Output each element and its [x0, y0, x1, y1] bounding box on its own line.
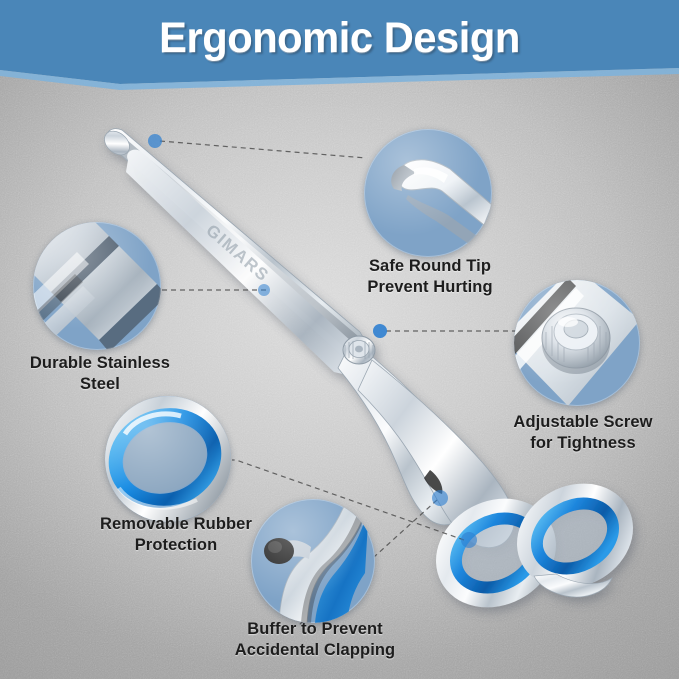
callout-label-buffer: Buffer to Prevent Accidental Clapping	[212, 619, 418, 661]
callout-label-removable-rubber: Removable Rubber Protection	[78, 514, 274, 556]
bubble-glow	[364, 129, 492, 257]
callout-label-durable-stainless-steel: Durable Stainless Steel	[8, 353, 192, 395]
header-banner: Ergonomic Design	[0, 0, 679, 92]
infographic-canvas: GIMARS	[0, 0, 679, 679]
bubble-glow	[105, 396, 231, 522]
bubble-glow	[514, 280, 640, 406]
callout-bubble-removable-rubber[interactable]	[105, 396, 231, 522]
callout-bubble-safe-round-tip[interactable]	[364, 129, 492, 257]
callout-bubble-adjustable-screw[interactable]	[514, 280, 640, 406]
callout-label-safe-round-tip: Safe Round Tip Prevent Hurting	[338, 256, 522, 298]
callout-bubble-durable-stainless-steel[interactable]	[33, 222, 161, 350]
callout-label-adjustable-screw: Adjustable Screw for Tightness	[488, 412, 678, 454]
bubble-glow	[33, 222, 161, 350]
